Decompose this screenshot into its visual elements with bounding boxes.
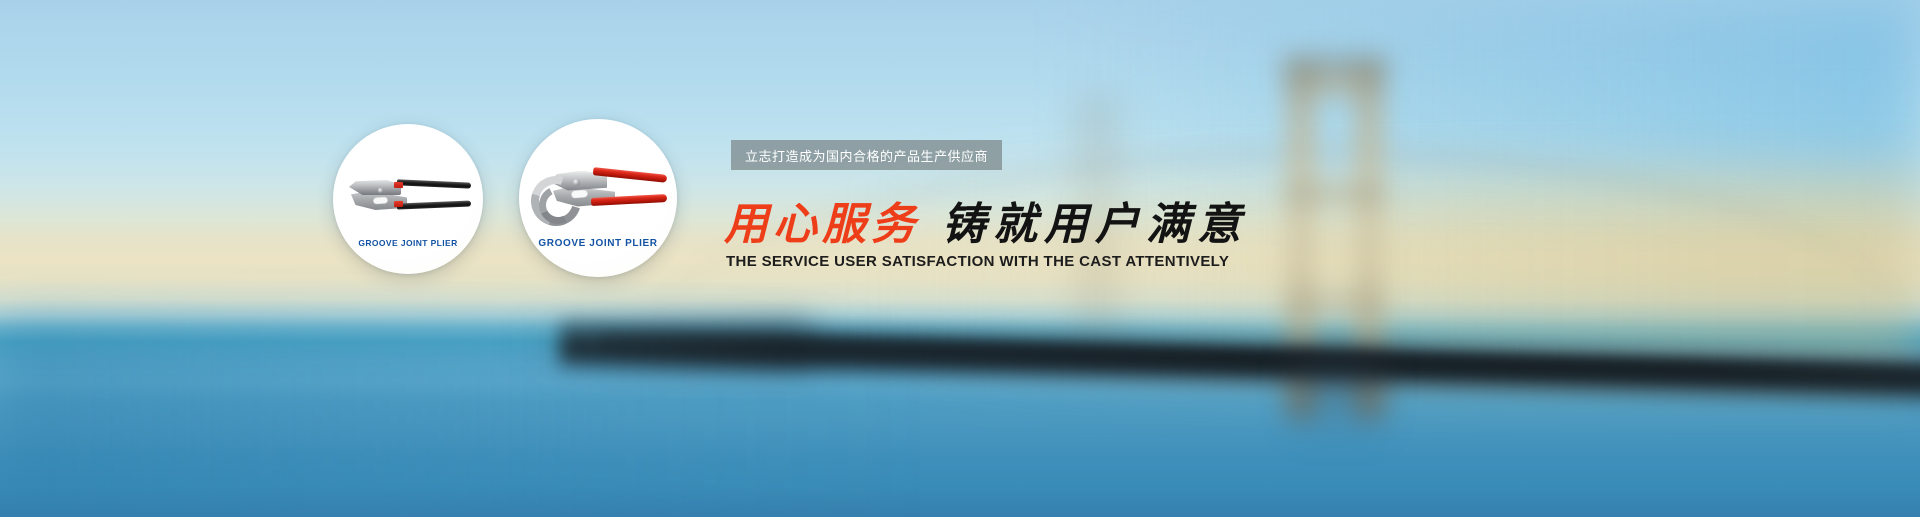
product-circle-1[interactable]: GROOVE JOINT PLIER <box>333 124 483 274</box>
groove-joint-plier-black-handle-icon <box>347 178 471 214</box>
slogan-secondary: 铸就用户满意 <box>942 199 1248 250</box>
product-circle-2[interactable]: GROOVE JOINT PLIER <box>519 119 677 277</box>
product-image-1 <box>333 160 483 224</box>
plier-pivot <box>378 188 383 193</box>
plier-handle-bottom <box>397 200 471 209</box>
bridge-tower-beam <box>1286 296 1384 309</box>
plier-slot <box>571 189 589 198</box>
plier-collar-bottom <box>394 201 403 207</box>
plier-collar-top <box>394 182 403 188</box>
slogan: 用心服务铸就用户满意 <box>724 199 1248 251</box>
product-caption-2: GROOVE JOINT PLIER <box>538 238 657 249</box>
plier-handle-top <box>397 179 471 188</box>
plier-pivot <box>573 179 580 186</box>
tagline-bar: 立志打造成为国内合格的产品生产供应商 <box>731 140 1002 170</box>
groove-joint-plier-red-handle-icon <box>529 170 667 216</box>
bridge-tower-beam <box>1286 74 1384 96</box>
promo-banner: GROOVE JOINT PLIER GROOVE JOINT PLIER 立志… <box>0 0 1920 517</box>
bridge-tower-beam <box>1286 186 1384 201</box>
product-image-2 <box>519 158 677 222</box>
slogan-subtitle: THE SERVICE USER SATISFACTION WITH THE C… <box>726 253 1229 270</box>
slogan-primary: 用心服务 <box>724 199 920 250</box>
tagline-text: 立志打造成为国内合格的产品生产供应商 <box>745 146 988 165</box>
bridge-tower-cap <box>1282 58 1388 72</box>
product-caption-1: GROOVE JOINT PLIER <box>358 238 457 248</box>
bridge-pier-shadow <box>1292 360 1384 444</box>
plier-slot <box>373 196 388 204</box>
